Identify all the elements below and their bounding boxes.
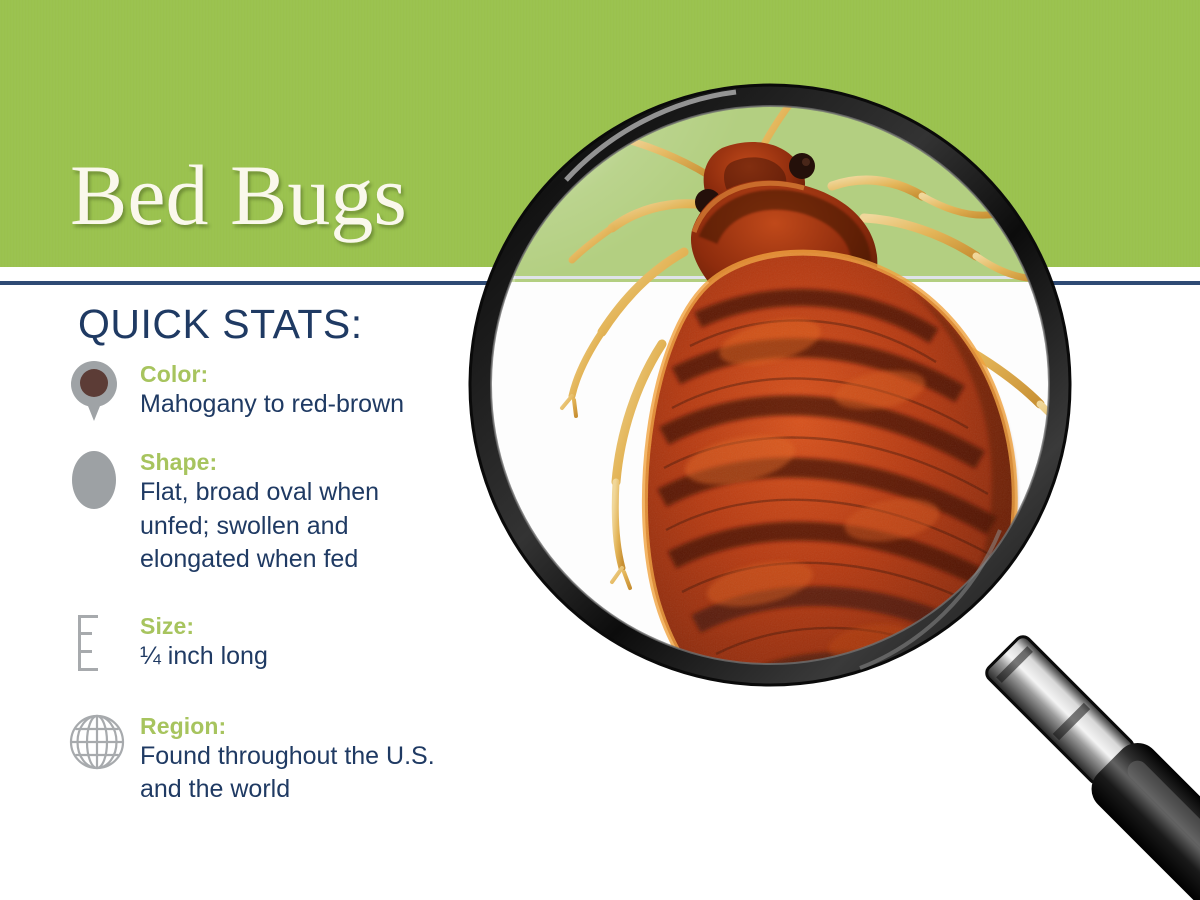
stat-text-shape: Shape: Flat, broad oval when unfed; swol…	[140, 447, 452, 577]
page-title: Bed Bugs	[70, 152, 407, 238]
stat-text-region: Region: Found throughout the U.S. and th…	[140, 711, 452, 807]
globe-icon	[68, 713, 130, 775]
stat-label-region: Region:	[140, 712, 452, 740]
header-divider-rule	[0, 281, 1200, 285]
quick-stats-list: Color: Mahogany to red-brown Shape: Flat…	[0, 359, 470, 807]
stat-row-color: Color: Mahogany to red-brown	[0, 359, 470, 423]
ruler-icon	[68, 613, 130, 675]
quick-stats-heading: QUICK STATS:	[78, 301, 363, 348]
bed-bug-abdomen	[645, 253, 1017, 741]
stat-label-shape: Shape:	[140, 448, 452, 476]
stat-label-size: Size:	[140, 612, 268, 640]
magnifier-handle	[983, 633, 1200, 900]
stat-label-color: Color:	[140, 360, 404, 388]
map-pin-icon	[68, 361, 130, 423]
infographic-page: Bed Bugs QUICK STATS: Color: Mahogany to…	[0, 0, 1200, 900]
stat-row-shape: Shape: Flat, broad oval when unfed; swol…	[0, 447, 470, 577]
stat-row-size: Size: ¼ inch long	[0, 611, 470, 675]
stat-text-color: Color: Mahogany to red-brown	[140, 359, 404, 422]
header-white-gap	[0, 267, 1200, 281]
stat-value-shape: Flat, broad oval when unfed; swollen and…	[140, 476, 452, 577]
quick-stats-panel: QUICK STATS: Color: Mahogany to red-brow…	[0, 293, 470, 900]
stat-value-color: Mahogany to red-brown	[140, 388, 404, 422]
stat-value-region: Found throughout the U.S. and the world	[140, 740, 452, 807]
oval-icon	[68, 449, 130, 511]
stat-row-region: Region: Found throughout the U.S. and th…	[0, 711, 470, 807]
stat-text-size: Size: ¼ inch long	[140, 611, 268, 674]
stat-value-size: ¼ inch long	[140, 640, 268, 674]
